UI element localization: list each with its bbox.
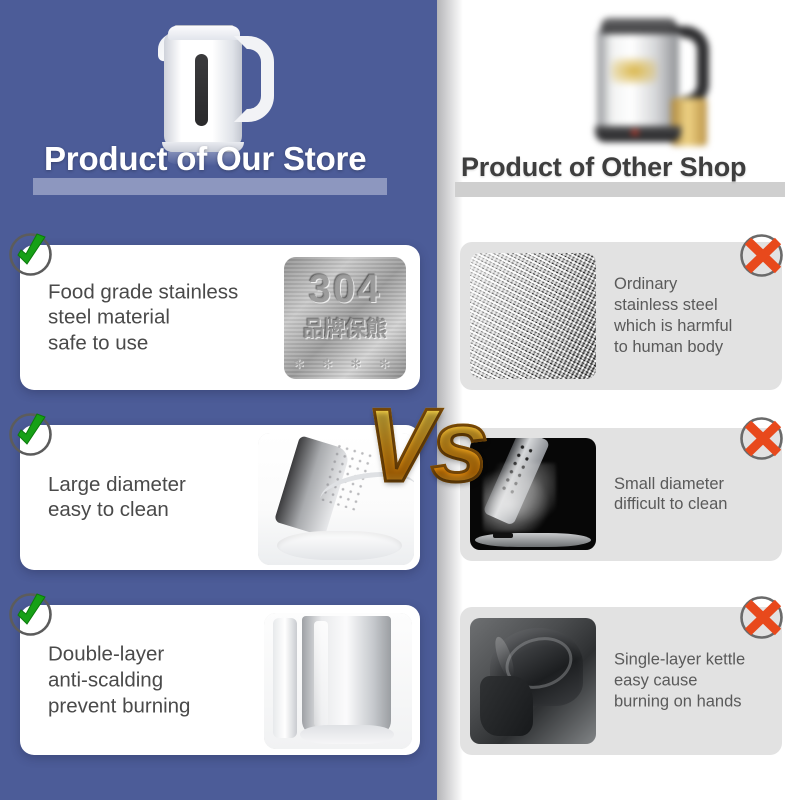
vs-label: Vs bbox=[345, 383, 505, 511]
kettle-lid bbox=[168, 26, 240, 40]
feature-line: anti-scalding bbox=[48, 667, 264, 693]
red-cross-icon bbox=[738, 415, 785, 462]
outer-shell bbox=[273, 618, 297, 738]
black-kettle-art bbox=[470, 618, 596, 744]
our-feature-text-1: Food grade stainless steel material safe… bbox=[48, 279, 264, 356]
competitor-drawback-card-3: Single-layer kettle easy cause burning o… bbox=[460, 607, 782, 755]
drawback-line: Single-layer kettle bbox=[614, 650, 766, 671]
inner-liner-sheen bbox=[314, 621, 327, 727]
competitor-drawback-text-2: Small diameter difficult to clean bbox=[614, 474, 766, 516]
kettle-handle bbox=[234, 36, 274, 122]
left-title-underline-bar bbox=[33, 178, 387, 195]
green-check-icon bbox=[7, 411, 54, 458]
steel-grade-number: 304 bbox=[284, 267, 406, 312]
drawback-line: Small diameter bbox=[614, 474, 766, 495]
drawback-line: difficult to clean bbox=[614, 495, 766, 516]
black-single-layer-kettle-thumb bbox=[470, 618, 596, 744]
competitor-kettle-indicator-light bbox=[631, 130, 639, 135]
drawback-line: stainless steel bbox=[614, 295, 766, 316]
other-shop-title: Product of Other Shop bbox=[461, 152, 800, 183]
our-feature-card-1: Food grade stainless steel material safe… bbox=[20, 245, 420, 390]
vs-badge: Vs bbox=[345, 383, 505, 511]
kettle-opening-base bbox=[277, 531, 402, 560]
inner-pot-art bbox=[264, 613, 412, 749]
black-kettle-spout bbox=[480, 676, 533, 736]
green-check-icon bbox=[7, 591, 54, 638]
double-layer-inner-pot-thumb bbox=[264, 613, 412, 749]
drawback-line: easy cause bbox=[614, 671, 766, 692]
pot-bottom bbox=[300, 725, 395, 744]
304-stainless-steel-stamp-thumb: 304 品牌保熊 ✻ ✻ ✻ ✻ bbox=[284, 257, 406, 379]
our-feature-text-2: Large diameter easy to clean bbox=[48, 472, 264, 524]
competitor-kettle-glow bbox=[611, 58, 657, 84]
red-cross-icon bbox=[738, 594, 785, 641]
steel-plate-art: 304 品牌保熊 ✻ ✻ ✻ ✻ bbox=[284, 257, 406, 379]
competitor-drawback-card-2: Small diameter difficult to clean bbox=[460, 428, 782, 561]
competitor-kettle-handle bbox=[671, 26, 709, 108]
steel-plate-chinese-text: 品牌保熊 bbox=[284, 313, 406, 343]
competitor-drawback-text-1: Ordinary stainless steel which is harmfu… bbox=[614, 274, 766, 358]
our-feature-card-3: Double-layer anti-scalding prevent burni… bbox=[20, 605, 420, 755]
competitor-kettle-lid bbox=[601, 18, 677, 34]
feature-line: Double-layer bbox=[48, 641, 264, 667]
red-cross-icon bbox=[738, 232, 785, 279]
feature-line: Large diameter bbox=[48, 472, 264, 498]
drawback-line: burning on hands bbox=[614, 691, 766, 712]
drawback-line: which is harmful bbox=[614, 316, 766, 337]
ordinary-steel-texture-thumb bbox=[470, 253, 596, 379]
competitor-drawback-card-1: Ordinary stainless steel which is harmfu… bbox=[460, 242, 782, 390]
green-check-icon bbox=[7, 231, 54, 278]
competitor-drawback-text-3: Single-layer kettle easy cause burning o… bbox=[614, 650, 766, 713]
noisy-steel-art bbox=[470, 253, 596, 379]
glass-steel-kettle-image bbox=[585, 2, 735, 152]
steel-plate-stars: ✻ ✻ ✻ ✻ bbox=[284, 356, 406, 372]
right-title-underline-bar bbox=[455, 182, 785, 197]
our-store-title: Product of Our Store bbox=[44, 140, 424, 178]
feature-line: safe to use bbox=[48, 330, 264, 356]
kettle-foot-slot bbox=[493, 533, 513, 537]
white-electric-kettle-image bbox=[158, 8, 278, 156]
feature-line: Food grade stainless bbox=[48, 279, 264, 305]
kettle-water-window bbox=[195, 54, 208, 126]
comparison-infographic: Product of Our Store Product of Other Sh… bbox=[0, 0, 800, 800]
our-feature-text-3: Double-layer anti-scalding prevent burni… bbox=[48, 641, 264, 718]
feature-line: easy to clean bbox=[48, 498, 264, 524]
feature-line: prevent burning bbox=[48, 693, 264, 719]
drawback-line: to human body bbox=[614, 337, 766, 358]
feature-line: steel material bbox=[48, 305, 264, 331]
